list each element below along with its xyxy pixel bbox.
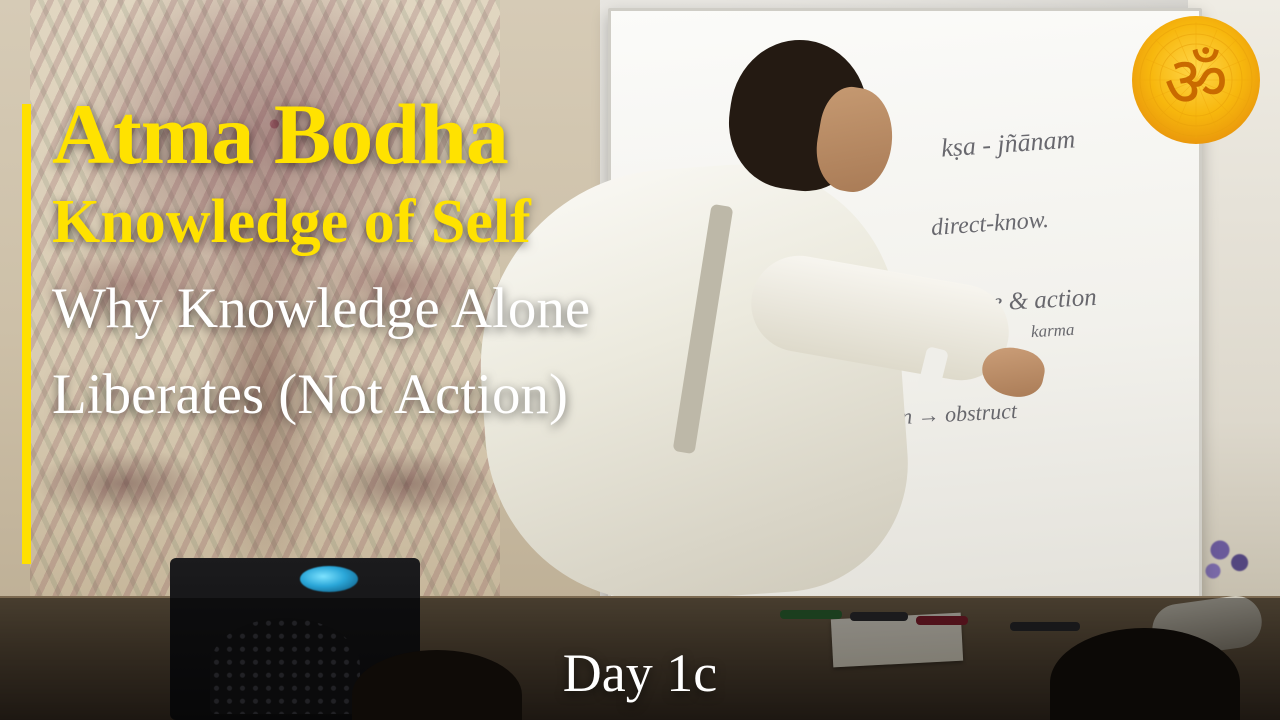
title-subtitle: Knowledge of Self — [52, 190, 952, 255]
flower-vase — [1192, 522, 1262, 592]
speaker-indicator-light — [300, 566, 358, 592]
svg-text:ॐ: ॐ — [1164, 41, 1228, 123]
description-line-2: Liberates (Not Action) — [52, 363, 952, 427]
description-line-1: Why Knowledge Alone — [52, 277, 952, 341]
title-block: Atma Bodha Knowledge of Self Why Knowled… — [52, 92, 952, 427]
title-main: Atma Bodha — [52, 92, 952, 176]
accent-bar — [22, 104, 31, 564]
whiteboard-note: karma — [1031, 320, 1075, 342]
om-badge: ॐ — [1130, 14, 1262, 146]
day-label: Day 1c — [0, 642, 1280, 704]
video-thumbnail: kṣa - jñānamdirect-know.ignorance & acti… — [0, 0, 1280, 720]
